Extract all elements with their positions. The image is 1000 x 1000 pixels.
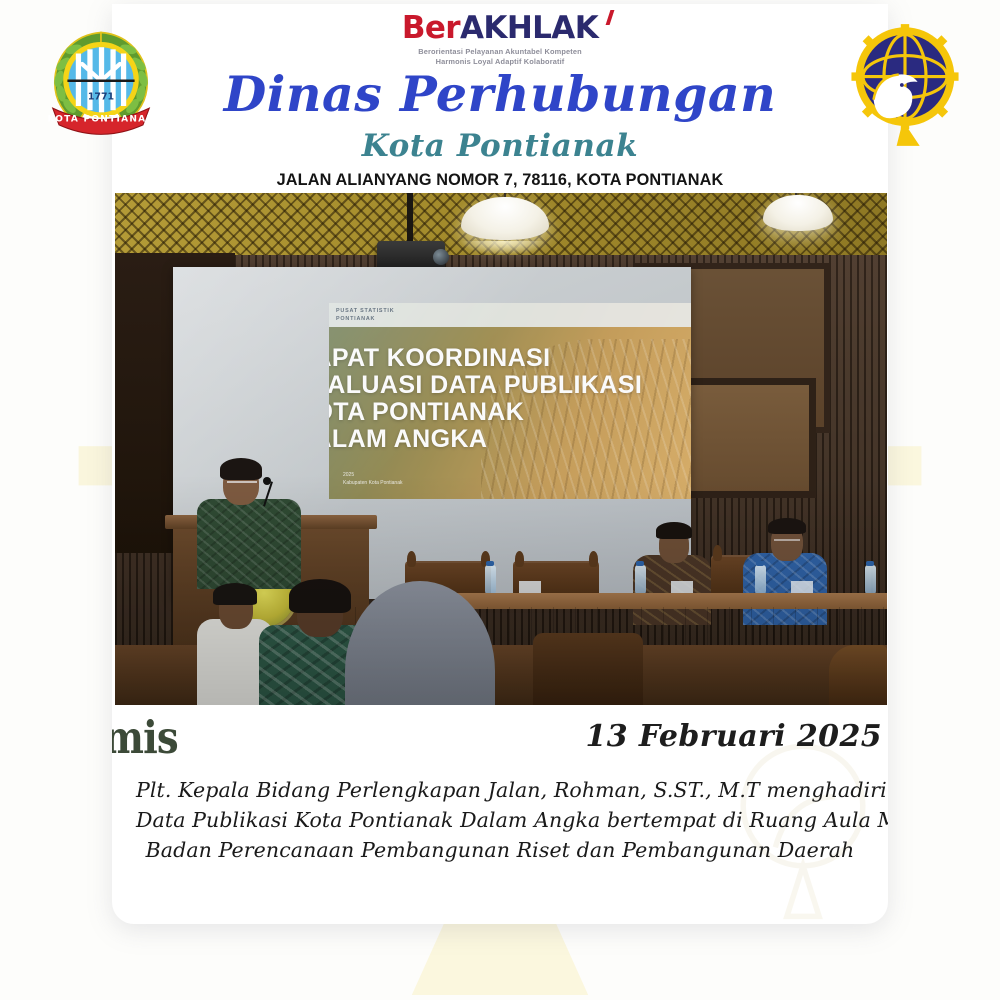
- logo-ribbon-text: KOTA PONTIANAK: [47, 115, 154, 125]
- event-caption: Plt. Kepala Bidang Perlengkapan Jalan, R…: [136, 776, 864, 866]
- office-address: JALAN ALIANYANG NOMOR 7, 78116, KOTA PON…: [112, 171, 888, 190]
- caption-line-2: Data Publikasi Kota Pontianak Dalam Angk…: [136, 806, 864, 836]
- date-label: 13 Februari 2025: [585, 719, 882, 754]
- page-subtitle: Kota Pontianak: [112, 131, 888, 162]
- berakhlak-tagline-line1: Berorientasi Pelayanan Akuntabel Kompete…: [370, 47, 630, 57]
- page-title: Dinas Perhubungan: [112, 70, 888, 119]
- dateline-row: Kamis 13 Februari 2025: [112, 709, 888, 771]
- event-photo: PUSAT STATISTIK PONTIANAK RAPAT KOORDINA…: [115, 193, 887, 705]
- berakhlak-wordmark: BerAKHLAK: [370, 13, 630, 44]
- poster-header: BerAKHLAK Berorientasi Pelayanan Akuntab…: [112, 4, 888, 193]
- content-card: BerAKHLAK Berorientasi Pelayanan Akuntab…: [112, 4, 888, 924]
- berakhlak-tick-icon: [595, 10, 615, 25]
- dinas-perhubungan-logo-icon: 1771 KOTA PONTIANAK: [38, 22, 164, 148]
- day-label: Kamis: [112, 711, 178, 764]
- caption-line-3: Badan Perencanaan Pembangunan Riset dan …: [136, 836, 864, 866]
- photo-vignette: [115, 193, 887, 705]
- berakhlak-ber: Ber: [402, 10, 460, 46]
- svg-text:1771: 1771: [88, 92, 114, 103]
- berakhlak-logo: BerAKHLAK Berorientasi Pelayanan Akuntab…: [370, 13, 630, 67]
- caption-line-1: Plt. Kepala Bidang Perlengkapan Jalan, R…: [136, 776, 864, 806]
- berakhlak-akhlak: AKHLAK: [460, 10, 598, 46]
- poster-root: BerAKHLAK Berorientasi Pelayanan Akuntab…: [0, 0, 1000, 1000]
- kementerian-perhubungan-logo-icon: [842, 22, 968, 148]
